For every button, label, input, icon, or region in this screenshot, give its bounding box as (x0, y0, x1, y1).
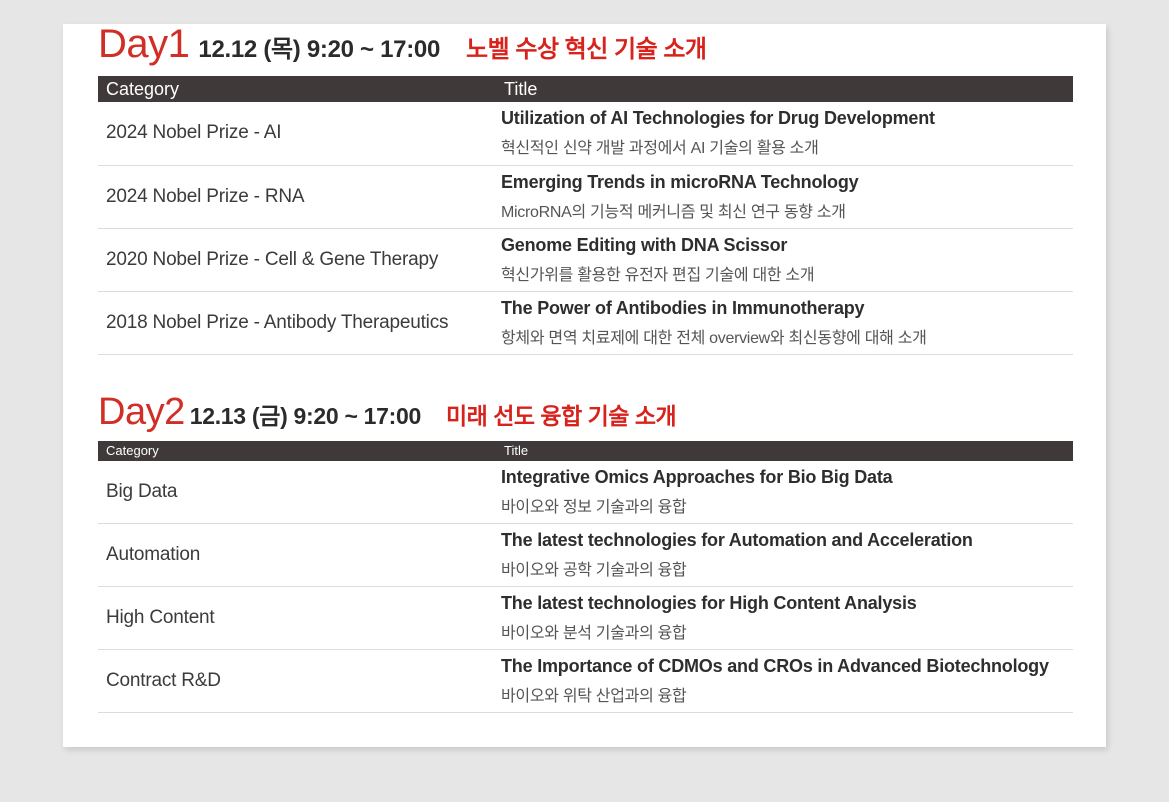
session-subtitle: 바이오와 정보 기술과의 융합 (501, 493, 1067, 517)
session-subtitle: 바이오와 위탁 산업과의 융합 (501, 682, 1067, 706)
day1-column-header-title: Title (498, 76, 1073, 102)
table-row: 2020 Nobel Prize - Cell & Gene Therapy G… (98, 228, 1073, 291)
card-content: Day1 12.12 (목) 9:20 ~ 17:00 노벨 수상 혁신 기술 … (98, 24, 1073, 713)
title-block: The latest technologies for Automation a… (501, 526, 1067, 584)
session-title: The latest technologies for High Content… (501, 593, 1067, 614)
day2-date: 12.13 (금) 9:20 ~ 17:00 (190, 405, 421, 428)
session-title: The Importance of CDMOs and CROs in Adva… (501, 656, 1067, 677)
session-title: The Power of Antibodies in Immunotherapy (501, 298, 1067, 319)
session-subtitle: 혁신적인 신약 개발 과정에서 AI 기술의 활용 소개 (501, 134, 1067, 158)
title-block: Emerging Trends in microRNA Technology M… (501, 168, 1067, 226)
category-text: High Content (106, 607, 492, 629)
day2-header: Day2 12.13 (금) 9:20 ~ 17:00 미래 선도 융합 기술 … (98, 393, 1073, 441)
table-cell-category: 2024 Nobel Prize - RNA (98, 165, 498, 228)
table-cell-category: 2020 Nobel Prize - Cell & Gene Therapy (98, 228, 498, 291)
table-cell-title: The Power of Antibodies in Immunotherapy… (498, 291, 1073, 354)
day1-topic: 노벨 수상 혁신 기술 소개 (466, 38, 706, 62)
session-title: The latest technologies for Automation a… (501, 530, 1067, 551)
table-row: 2024 Nobel Prize - RNA Emerging Trends i… (98, 165, 1073, 228)
table-cell-category: Automation (98, 524, 498, 587)
category-text: Contract R&D (106, 670, 492, 692)
session-title: Integrative Omics Approaches for Bio Big… (501, 467, 1067, 488)
day2-schedule-table: Category Title Big Data Integrative Omic… (98, 441, 1073, 714)
section-spacer (98, 355, 1073, 393)
day2-topic: 미래 선도 융합 기술 소개 (446, 405, 676, 428)
day1-table-body: 2024 Nobel Prize - AI Utilization of AI … (98, 102, 1073, 354)
table-row: Automation The latest technologies for A… (98, 524, 1073, 587)
session-title: Genome Editing with DNA Scissor (501, 235, 1067, 256)
category-text: Big Data (106, 481, 492, 503)
schedule-card: Day1 12.12 (목) 9:20 ~ 17:00 노벨 수상 혁신 기술 … (63, 24, 1106, 747)
title-block: Integrative Omics Approaches for Bio Big… (501, 463, 1067, 521)
day1-date: 12.12 (목) 9:20 ~ 17:00 (198, 38, 440, 62)
table-cell-title: Utilization of AI Technologies for Drug … (498, 102, 1073, 165)
session-subtitle: 바이오와 분석 기술과의 융합 (501, 619, 1067, 643)
category-text: 2020 Nobel Prize - Cell & Gene Therapy (106, 249, 492, 271)
day1-header: Day1 12.12 (목) 9:20 ~ 17:00 노벨 수상 혁신 기술 … (98, 24, 1073, 76)
day2-column-header-category: Category (98, 441, 498, 461)
table-row: High Content The latest technologies for… (98, 587, 1073, 650)
table-row: Big Data Integrative Omics Approaches fo… (98, 461, 1073, 524)
table-header-row: Category Title (98, 76, 1073, 102)
session-subtitle: MicroRNA의 기능적 메커니즘 및 최신 연구 동향 소개 (501, 198, 1067, 222)
table-cell-title: The latest technologies for Automation a… (498, 524, 1073, 587)
day2-table-body: Big Data Integrative Omics Approaches fo… (98, 461, 1073, 713)
session-subtitle: 혁신가위를 활용한 유전자 편집 기술에 대한 소개 (501, 261, 1067, 285)
table-header-row: Category Title (98, 441, 1073, 461)
table-cell-category: Big Data (98, 461, 498, 524)
title-block: Genome Editing with DNA Scissor 혁신가위를 활용… (501, 231, 1067, 289)
table-cell-category: 2024 Nobel Prize - AI (98, 102, 498, 165)
day2-table-head: Category Title (98, 441, 1073, 461)
day1-schedule-table: Category Title 2024 Nobel Prize - AI Uti… (98, 76, 1073, 355)
day2-column-header-title: Title (498, 441, 1073, 461)
day2-label: Day2 (98, 393, 185, 431)
category-text: 2024 Nobel Prize - RNA (106, 186, 492, 208)
title-block: The latest technologies for High Content… (501, 589, 1067, 647)
day1-table-head: Category Title (98, 76, 1073, 102)
title-block: The Importance of CDMOs and CROs in Adva… (501, 652, 1067, 710)
table-row: 2018 Nobel Prize - Antibody Therapeutics… (98, 291, 1073, 354)
category-text: 2018 Nobel Prize - Antibody Therapeutics (106, 312, 492, 334)
table-cell-title: Emerging Trends in microRNA Technology M… (498, 165, 1073, 228)
session-title: Utilization of AI Technologies for Drug … (501, 108, 1067, 129)
table-row: 2024 Nobel Prize - AI Utilization of AI … (98, 102, 1073, 165)
category-text: Automation (106, 544, 492, 566)
page-root: Day1 12.12 (목) 9:20 ~ 17:00 노벨 수상 혁신 기술 … (0, 0, 1169, 802)
title-block: The Power of Antibodies in Immunotherapy… (501, 294, 1067, 352)
category-text: 2024 Nobel Prize - AI (106, 122, 492, 144)
day1-column-header-category: Category (98, 76, 498, 102)
day1-label: Day1 (98, 24, 189, 64)
table-cell-title: Genome Editing with DNA Scissor 혁신가위를 활용… (498, 228, 1073, 291)
title-block: Utilization of AI Technologies for Drug … (501, 104, 1067, 162)
table-cell-title: The latest technologies for High Content… (498, 587, 1073, 650)
session-subtitle: 바이오와 공학 기술과의 융합 (501, 556, 1067, 580)
session-subtitle: 항체와 면역 치료제에 대한 전체 overview와 최신동향에 대해 소개 (501, 324, 1067, 348)
table-cell-category: High Content (98, 587, 498, 650)
table-cell-title: Integrative Omics Approaches for Bio Big… (498, 461, 1073, 524)
table-row: Contract R&D The Importance of CDMOs and… (98, 650, 1073, 713)
table-cell-category: Contract R&D (98, 650, 498, 713)
table-cell-category: 2018 Nobel Prize - Antibody Therapeutics (98, 291, 498, 354)
session-title: Emerging Trends in microRNA Technology (501, 172, 1067, 193)
table-cell-title: The Importance of CDMOs and CROs in Adva… (498, 650, 1073, 713)
